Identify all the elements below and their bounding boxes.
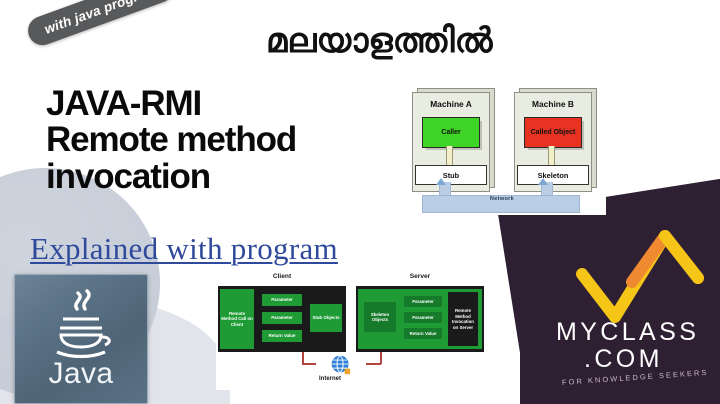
stub-box: Stub (415, 165, 487, 185)
server-skeleton-objects-box: Skeleton Objects (364, 302, 396, 332)
client-panel: Remote Method Call on Client Parameter P… (218, 286, 346, 352)
server-parameter-box-2: Parameter (404, 312, 442, 323)
caller-box: Caller (422, 117, 480, 148)
machine-a-label: Machine A (413, 99, 489, 109)
client-remote-method-call-box: Remote Method Call on Client (220, 289, 254, 349)
zigzag-chevron-logo-mark-icon (570, 222, 710, 326)
brand-logo-name: MYCLASS (556, 318, 720, 347)
machine-b-label: Machine B (515, 99, 591, 109)
thumbnail-canvas: MYCLASS .COM FOR KNOWLEDGE SEEKERS with … (0, 0, 720, 404)
server-parameter-box-1: Parameter (404, 296, 442, 307)
client-parameter-box-2: Parameter (262, 312, 302, 324)
server-remote-invocation-box: Remote Method Invocation on Server (448, 292, 478, 346)
machine-a-connector-pin (446, 146, 453, 165)
network-label: Network (398, 196, 606, 202)
title-line-3: invocation (46, 159, 376, 195)
subtitle-explained-with-program: Explained with program (30, 231, 338, 267)
title-line-2: Remote method (46, 122, 376, 158)
server-return-value-box: Return Value (404, 328, 442, 339)
brand-logo: MYCLASS .COM FOR KNOWLEDGE SEEKERS (556, 218, 720, 404)
internet-label: Internet (304, 376, 356, 382)
skeleton-box: Skeleton (517, 165, 589, 185)
java-logo-tile: Java (14, 274, 148, 404)
globe-icon (330, 354, 352, 376)
rmi-machine-diagram: Machine A Caller Stub Machine B Called O… (398, 80, 606, 215)
server-wire-horizontal (366, 363, 381, 365)
machine-b-connector-pin (548, 146, 555, 165)
java-logo-word: Java (15, 357, 147, 391)
machine-a-box: Machine A Caller Stub (412, 92, 490, 192)
client-parameter-box-1: Parameter (262, 294, 302, 306)
client-title: Client (218, 273, 346, 280)
title-line-1: JAVA-RMI (46, 86, 376, 122)
java-coffee-cup-icon (45, 287, 117, 361)
client-server-diagram: Client Server Remote Method Call on Clie… (216, 272, 486, 390)
server-panel: Skeleton Objects Parameter Parameter Ret… (356, 286, 484, 352)
network-arrow-right-icon (538, 178, 548, 185)
machine-b-box: Machine B Called Object Skeleton (514, 92, 592, 192)
client-wire-horizontal (302, 363, 316, 365)
network-arrow-left-icon (436, 178, 446, 185)
client-stub-objects-box: Stub Objects (310, 304, 342, 332)
malayalam-heading: മലയാളത്തിൽ (266, 22, 492, 61)
client-return-value-box: Return Value (262, 330, 302, 342)
with-java-program-badge: with java program (24, 0, 178, 49)
called-object-box: Called Object (524, 117, 582, 148)
server-title: Server (356, 273, 484, 280)
page-title: JAVA-RMI Remote method invocation (46, 86, 376, 195)
